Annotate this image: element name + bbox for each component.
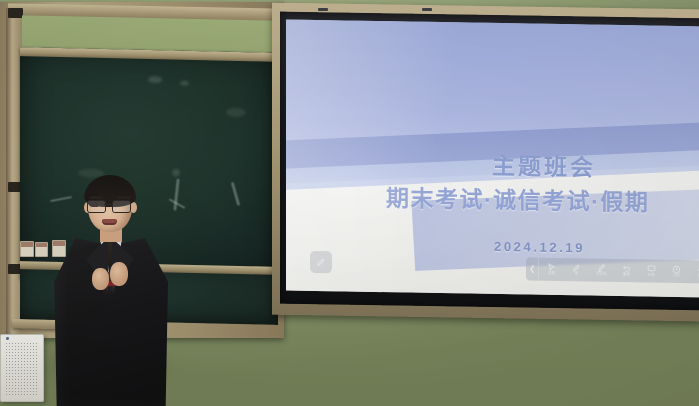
toolbar-label-timer: 计时 bbox=[673, 274, 680, 278]
presenter-hand-right bbox=[110, 262, 128, 286]
eyeglass-lens-left bbox=[87, 200, 106, 213]
chalk-smudge bbox=[148, 76, 162, 83]
eyeglasses-icon bbox=[87, 200, 133, 212]
annotation-toolbar[interactable]: 选择 笔 荧光笔 bbox=[526, 257, 699, 283]
smartboard-sensor bbox=[318, 8, 328, 11]
toolbar-item-pen[interactable]: 笔 bbox=[564, 258, 589, 281]
toolbar-item-highlighter[interactable]: 荧光笔 bbox=[589, 259, 614, 282]
presenter-brow-right bbox=[117, 196, 131, 199]
chalk-stroke bbox=[231, 182, 240, 206]
toolbar-label-highlighter: 荧光笔 bbox=[596, 273, 607, 277]
toolbar-item-timer[interactable]: 计时 bbox=[664, 260, 689, 283]
classroom-photo-scene: 主题班会 期末考试·诚信考试·假期 2024.12.19 bbox=[0, 0, 699, 406]
slide-subtitle: 期末考试·诚信考试·假期 bbox=[386, 179, 649, 217]
pen-icon bbox=[316, 257, 326, 267]
chalk-smudge bbox=[226, 108, 246, 117]
toolbar-item-more[interactable]: 更多 bbox=[689, 260, 699, 283]
toolbar-label-whiteboard: 白板 bbox=[648, 274, 655, 278]
toolbar-item-whiteboard[interactable]: 白板 bbox=[639, 259, 664, 282]
smartboard-sensor bbox=[422, 8, 432, 11]
slide-date: 2024.12.19 bbox=[494, 239, 585, 256]
presenter-figure bbox=[46, 176, 174, 406]
chalk-box bbox=[20, 241, 34, 257]
toolbar-item-select[interactable]: 选择 bbox=[539, 258, 564, 281]
toolbar-label-select: 选择 bbox=[548, 272, 555, 276]
eyeglass-bridge bbox=[104, 204, 112, 205]
eyeglass-lens-right bbox=[112, 200, 131, 213]
toolbar-item-undo[interactable]: 撤销 bbox=[614, 259, 639, 282]
presenter-hand-left bbox=[92, 268, 109, 290]
toolbar-label-undo: 撤销 bbox=[623, 273, 630, 277]
chalk-smudge bbox=[180, 81, 189, 86]
presenter-brow-left bbox=[89, 196, 103, 199]
frame-bracket bbox=[8, 8, 23, 18]
projection-screen[interactable]: 主题班会 期末考试·诚信考试·假期 2024.12.19 bbox=[286, 19, 699, 297]
slide-text-block: 主题班会 期末考试·诚信考试·假期 2024.12.19 bbox=[286, 19, 699, 297]
collapse-handle-icon bbox=[530, 265, 535, 274]
slide-corner-button[interactable] bbox=[310, 251, 332, 273]
toolbar-label-pen: 笔 bbox=[575, 273, 579, 276]
speaker-led-indicator bbox=[6, 337, 9, 340]
presenter-mouth bbox=[102, 219, 117, 225]
interactive-smartboard[interactable]: 主题班会 期末考试·诚信考试·假期 2024.12.19 bbox=[272, 6, 699, 318]
slide-title: 主题班会 bbox=[492, 147, 596, 183]
toolbar-collapse-handle[interactable] bbox=[526, 257, 539, 280]
